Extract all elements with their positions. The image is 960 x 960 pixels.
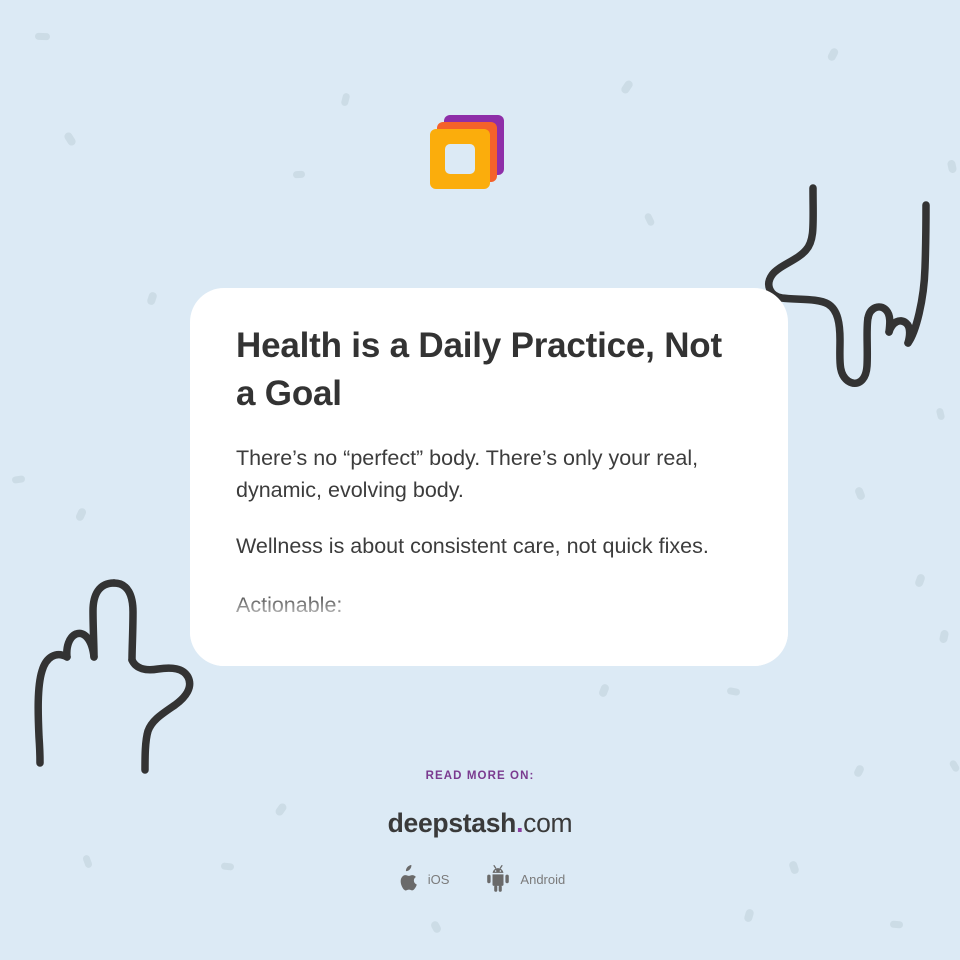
card-title: Health is a Daily Practice, Not a Goal [236,322,742,418]
ios-badge[interactable]: iOS [395,865,450,893]
confetti-speck [726,687,740,696]
deepstash-wordmark[interactable]: deepstash.com [0,808,960,839]
card-paragraph-1: There’s no “perfect” body. There’s only … [236,442,742,507]
confetti-speck [826,47,839,62]
confetti-speck [75,507,88,522]
wordmark-tld: com [523,808,572,838]
confetti-speck [146,291,158,306]
android-label: Android [520,872,565,887]
confetti-speck [644,212,656,227]
confetti-speck [598,683,610,698]
confetti-speck [63,131,77,147]
footer: READ MORE ON: deepstash.com iOS [0,770,960,893]
android-badge[interactable]: Android [485,865,565,893]
confetti-speck [743,908,754,923]
confetti-speck [620,79,634,95]
confetti-speck [341,92,351,106]
idea-card: Health is a Daily Practice, Not a Goal T… [190,288,788,666]
app-store-badges: iOS Android [0,865,960,893]
confetti-speck [936,407,946,420]
wordmark-name: deepstash [388,808,516,838]
apple-icon [395,865,419,893]
confetti-speck [939,629,950,643]
card-paragraph-2: Wellness is about consistent care, not q… [236,530,742,562]
pointing-hand-up-icon [28,565,200,780]
poster-canvas: Health is a Daily Practice, Not a Goal T… [0,0,960,960]
confetti-speck [890,921,903,929]
confetti-speck [35,33,50,41]
confetti-speck [947,159,958,173]
deepstash-logo [430,103,516,189]
android-icon [485,865,511,893]
ios-label: iOS [428,872,450,887]
confetti-speck [854,486,866,501]
confetti-speck [293,171,305,179]
confetti-speck [12,475,26,484]
read-more-label: READ MORE ON: [0,770,960,782]
confetti-speck [914,573,926,588]
confetti-speck [430,920,443,934]
card-paragraph-3: Actionable: [236,589,742,621]
